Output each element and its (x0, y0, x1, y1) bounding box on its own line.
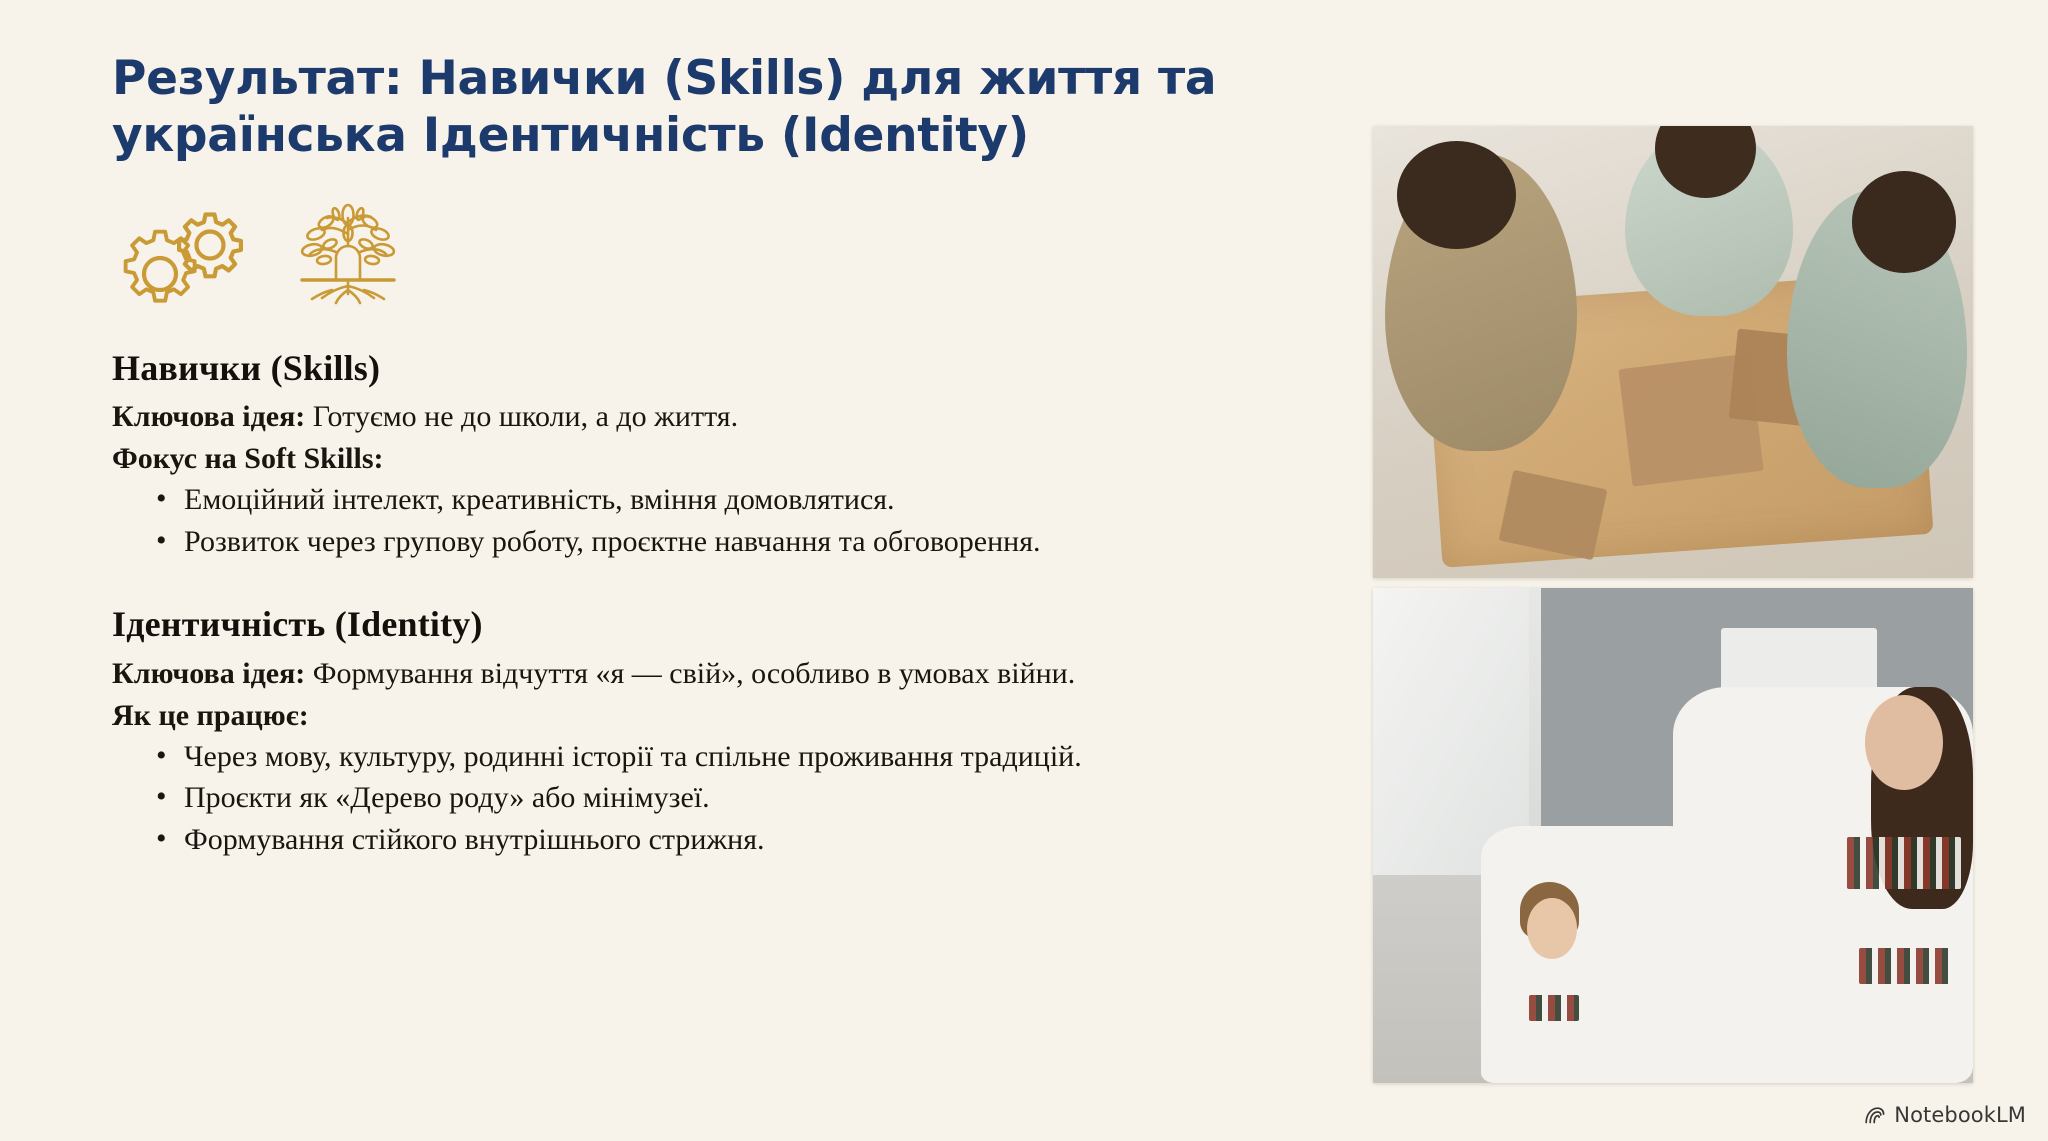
list-item: Емоційний інтелект, креативність, вміння… (156, 480, 1286, 520)
icon-row (112, 193, 1292, 311)
identity-key-idea: Ключова ідея: Формування відчуття «я — с… (112, 654, 1272, 693)
list-item: Розвиток через групову роботу, проєктне … (156, 522, 1286, 562)
gears-icon (118, 199, 246, 311)
notebooklm-watermark: NotebookLM (1864, 1103, 2026, 1127)
tree-of-life-icon (284, 199, 412, 311)
identity-bullet-list: Через мову, культуру, родинні історії та… (112, 737, 1286, 860)
list-item: Формування стійкого внутрішнього стрижня… (156, 820, 1286, 860)
skills-key-idea-label: Ключова ідея: (112, 400, 305, 433)
identity-key-idea-text: Формування відчуття «я — свій», особливо… (305, 657, 1075, 690)
notebooklm-icon (1864, 1105, 1886, 1125)
slide-root: Результат: Навички (Skills) для життя та… (0, 0, 2048, 1141)
skills-key-idea-text: Готуємо не до школи, а до життя. (305, 400, 738, 433)
identity-subhead: Як це працює: (112, 696, 1292, 735)
photo-vyshyvanka (1373, 588, 1973, 1083)
body-content: Навички (Skills) Ключова ідея: Готуємо н… (112, 347, 1292, 860)
photo-children-craft (1373, 126, 1973, 578)
section-heading-identity: Ідентичність (Identity) (112, 603, 1292, 645)
list-item: Через мову, культуру, родинні історії та… (156, 737, 1286, 777)
left-content-column: Результат: Навички (Skills) для життя та… (112, 50, 1292, 862)
skills-subhead: Фокус на Soft Skills: (112, 439, 1292, 478)
skills-key-idea: Ключова ідея: Готуємо не до школи, а до … (112, 397, 1272, 436)
list-item: Проєкти як «Дерево роду» або мінімузеї. (156, 778, 1286, 818)
skills-bullet-list: Емоційний інтелект, креативність, вміння… (112, 480, 1286, 561)
identity-key-idea-label: Ключова ідея: (112, 657, 305, 690)
section-heading-skills: Навички (Skills) (112, 347, 1292, 389)
notebooklm-label: NotebookLM (1894, 1103, 2026, 1127)
page-title: Результат: Навички (Skills) для життя та… (112, 50, 1272, 165)
